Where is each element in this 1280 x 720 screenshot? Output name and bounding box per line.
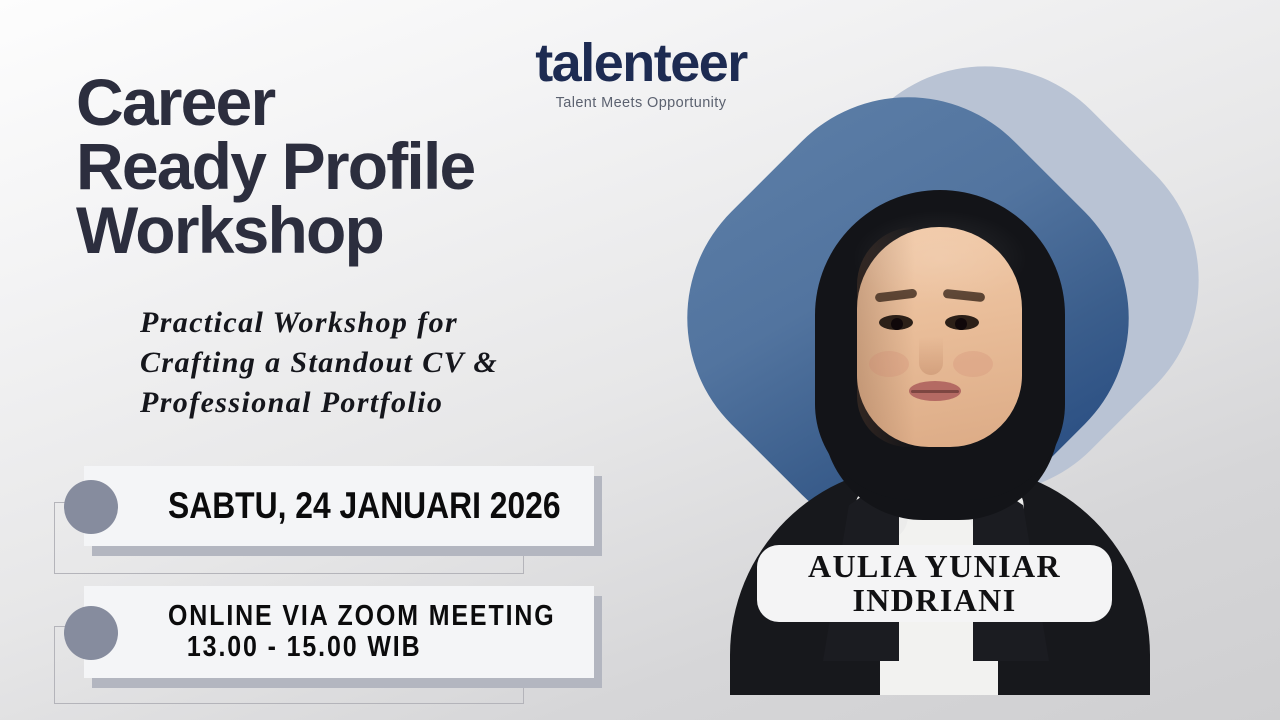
platform-time-card: ONLINE VIA ZOOM MEETING 13.00 - 15.00 WI…	[48, 578, 568, 708]
page-subtitle: Practical Workshop for Crafting a Stando…	[140, 303, 660, 423]
portrait-pupil-right	[955, 318, 967, 330]
portrait-cheek-left	[869, 351, 909, 377]
speaker-name-line-2: INDRIANI	[852, 584, 1016, 618]
event-poster: talenteer Talent Meets Opportunity Caree…	[0, 0, 1280, 720]
platform-card-panel: ONLINE VIA ZOOM MEETING 13.00 - 15.00 WI…	[84, 586, 594, 678]
date-card-panel: SABTU, 24 JANUARI 2026	[84, 466, 594, 546]
portrait-pupil-left	[891, 318, 903, 330]
page-title: Career Ready Profile Workshop	[76, 70, 676, 262]
title-line-3: Workshop	[76, 198, 676, 262]
title-line-1: Career	[76, 70, 676, 134]
title-line-2: Ready Profile	[76, 134, 676, 198]
date-card-text: SABTU, 24 JANUARI 2026	[168, 466, 618, 546]
platform-card-text: ONLINE VIA ZOOM MEETING 13.00 - 15.00 WI…	[168, 586, 618, 678]
platform-text: ONLINE VIA ZOOM MEETING	[168, 601, 555, 632]
subtitle-line-3: Professional Portfolio	[140, 383, 660, 423]
date-text: SABTU, 24 JANUARI 2026	[168, 486, 555, 526]
portrait-cheek-right	[953, 351, 993, 377]
date-card-bullet-icon	[64, 480, 118, 534]
portrait-face-shading	[857, 227, 915, 447]
speaker-name-plate: AULIA YUNIAR INDRIANI	[757, 545, 1112, 622]
subtitle-line-2: Crafting a Standout CV &	[140, 343, 660, 383]
speaker-name-line-1: AULIA YUNIAR	[808, 550, 1061, 584]
portrait-lip-line	[911, 390, 959, 393]
date-card: SABTU, 24 JANUARI 2026	[48, 458, 568, 580]
time-text: 13.00 - 15.00 WIB	[168, 632, 555, 663]
portrait-nose	[919, 337, 943, 375]
platform-card-bullet-icon	[64, 606, 118, 660]
subtitle-line-1: Practical Workshop for	[140, 303, 660, 343]
